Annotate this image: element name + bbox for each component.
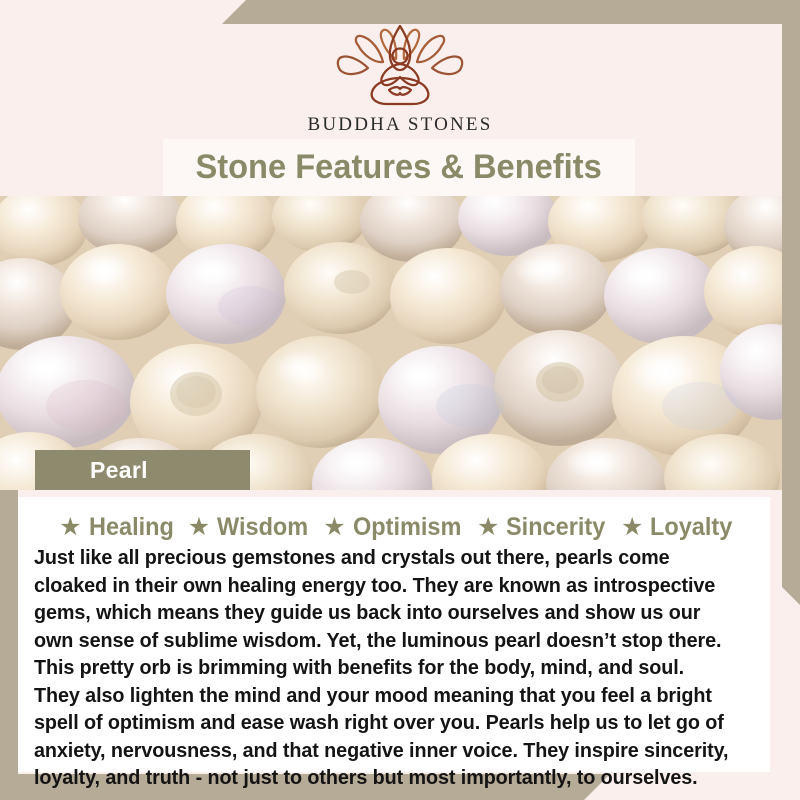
benefits-list: ★ Healing ★ Wisdom ★ Optimism ★ Sincerit…	[32, 513, 756, 542]
benefit-label: Wisdom	[217, 513, 308, 542]
infographic-card: BUDDHA STONES Stone Features & Benefits	[0, 0, 800, 800]
pearl-photo	[0, 196, 782, 490]
page-title-bar: Stone Features & Benefits	[163, 139, 635, 196]
decorative-strip-left	[0, 470, 18, 780]
star-icon: ★	[59, 515, 81, 540]
stone-description: Just like all precious gemstones and cry…	[34, 544, 729, 792]
star-icon: ★	[188, 515, 210, 540]
brand-wordmark: BUDDHA STONES	[0, 114, 800, 136]
benefit-label: Sincerity	[506, 513, 605, 542]
decorative-corner-top-right	[222, 0, 800, 24]
stone-name-badge: Pearl	[35, 450, 250, 490]
benefit-item-optimism: ★ Optimism	[314, 513, 468, 542]
content-panel: ★ Healing ★ Wisdom ★ Optimism ★ Sincerit…	[18, 497, 770, 772]
benefit-item-sincerity: ★ Sincerity	[468, 513, 612, 542]
benefit-item-wisdom: ★ Wisdom	[179, 513, 314, 542]
benefit-label: Optimism	[353, 513, 461, 542]
benefit-label: Loyalty	[650, 513, 732, 542]
benefit-label: Healing	[89, 513, 174, 542]
star-icon: ★	[477, 515, 499, 540]
star-icon: ★	[621, 515, 643, 540]
benefit-item-healing: ★ Healing	[50, 513, 179, 542]
benefit-item-loyalty: ★ Loyalty	[612, 513, 738, 542]
stone-name: Pearl	[35, 457, 148, 484]
pearl-photo-graphic	[0, 196, 782, 490]
brand-logo-block: BUDDHA STONES	[0, 22, 800, 136]
lotus-meditation-icon	[325, 22, 475, 110]
page-title: Stone Features & Benefits	[196, 148, 602, 187]
star-icon: ★	[323, 515, 345, 540]
